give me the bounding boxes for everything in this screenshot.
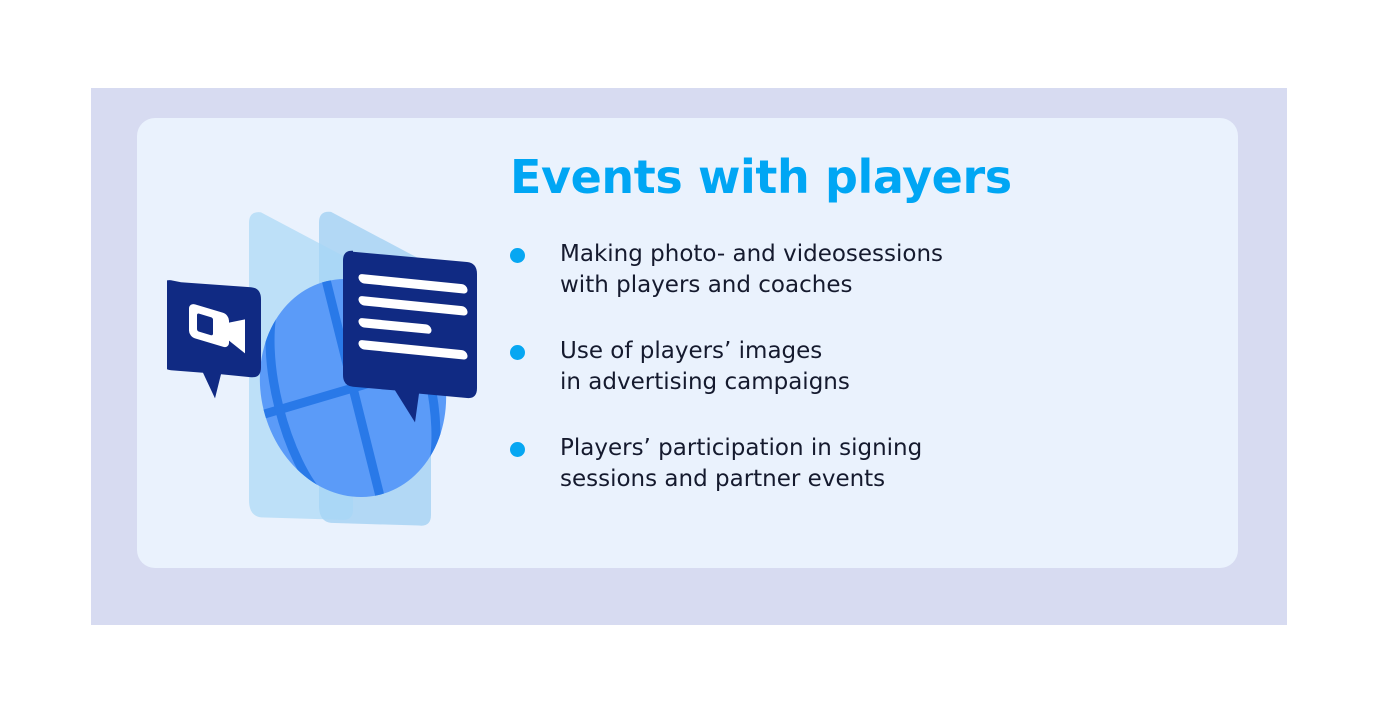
list-item-label: Making photo- and videosessions with pla… [560,239,943,301]
bullet-dot-icon [510,248,525,263]
slide-canvas: Events with players Making photo- and vi… [0,0,1396,705]
bullet-dot-icon [510,442,525,457]
list-item-label: Use of players’ images in advertising ca… [560,336,850,398]
list-item: Players’ participation in signing sessio… [510,433,1210,495]
list-item: Use of players’ images in advertising ca… [510,336,1210,398]
content-column: Events with players Making photo- and vi… [510,153,1210,495]
basketball-media-illustration [167,138,537,558]
video-speech-bubble [167,260,261,412]
bullet-dot-icon [510,345,525,360]
content-card: Events with players Making photo- and vi… [137,118,1238,568]
page-title: Events with players [510,153,1210,201]
list-item: Making photo- and videosessions with pla… [510,239,1210,301]
feature-bullet-list: Making photo- and videosessions with pla… [510,239,1210,495]
list-item-label: Players’ participation in signing sessio… [560,433,922,495]
